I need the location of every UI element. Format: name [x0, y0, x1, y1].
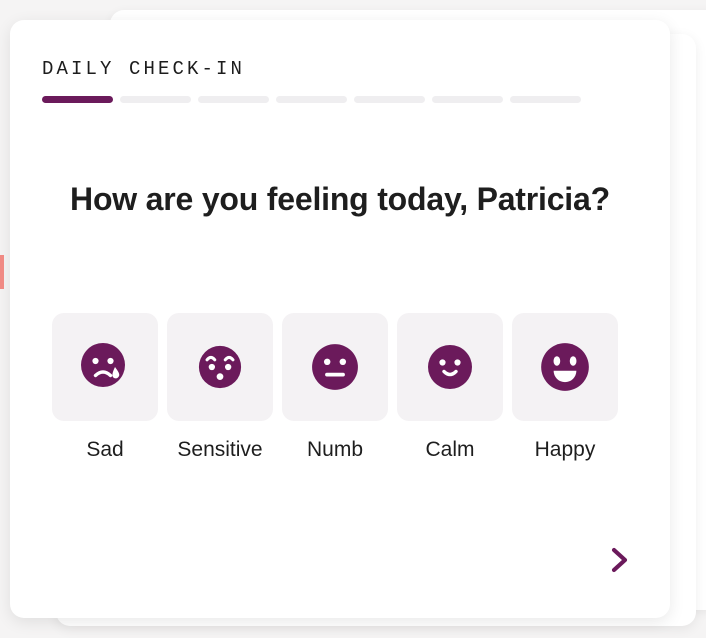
mood-label-calm: Calm: [425, 438, 474, 462]
mood-tile-sensitive[interactable]: [167, 313, 273, 421]
page-title: How are you feeling today, Patricia?: [60, 175, 620, 223]
progress-step-3: [198, 96, 269, 103]
face-neutral-icon: [310, 342, 360, 392]
mood-label-sensitive: Sensitive: [177, 438, 262, 462]
mood-label-sad: Sad: [86, 438, 123, 462]
progress-step-7: [510, 96, 581, 103]
mood-tile-numb[interactable]: [282, 313, 388, 421]
progress-step-6: [432, 96, 503, 103]
mood-option-calm[interactable]: Calm: [397, 313, 503, 462]
mood-option-sad[interactable]: Sad: [52, 313, 158, 462]
daily-checkin-card: DAILY CHECK-IN How are you feeling today…: [10, 20, 670, 618]
page-eyebrow-title: DAILY CHECK-IN: [42, 58, 245, 80]
mood-label-numb: Numb: [307, 438, 363, 462]
progress-step-2: [120, 96, 191, 103]
progress-step-1: [42, 96, 113, 103]
face-grin-icon: [539, 341, 591, 393]
progress-indicator: [42, 96, 581, 103]
mood-option-happy[interactable]: Happy: [512, 313, 618, 462]
mood-options-row: Sad Sensitive: [52, 313, 618, 462]
mood-tile-calm[interactable]: [397, 313, 503, 421]
face-slight-smile-icon: [426, 343, 474, 391]
chevron-right-icon: [609, 546, 631, 574]
mood-tile-sad[interactable]: [52, 313, 158, 421]
mood-tile-happy[interactable]: [512, 313, 618, 421]
progress-step-5: [354, 96, 425, 103]
progress-step-4: [276, 96, 347, 103]
mood-label-happy: Happy: [535, 438, 596, 462]
next-button[interactable]: [600, 540, 640, 580]
face-sad-tear-icon: [79, 341, 131, 393]
mood-option-sensitive[interactable]: Sensitive: [167, 313, 273, 462]
left-edge-marker: [0, 255, 4, 289]
face-worried-icon: [197, 344, 243, 390]
mood-option-numb[interactable]: Numb: [282, 313, 388, 462]
